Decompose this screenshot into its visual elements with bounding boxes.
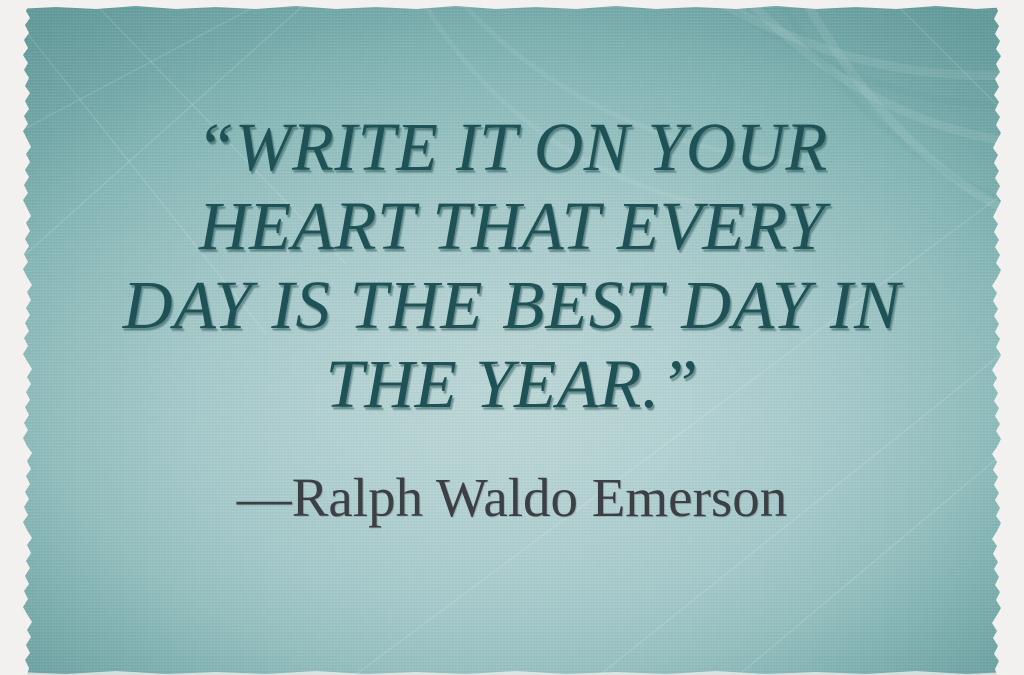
paper-card: “WRITE IT ON YOUR HEART THAT EVERY DAY I…: [16, 4, 1008, 675]
quote-line-2: HEART THAT EVERY: [32, 187, 992, 266]
quote-line-4: THE YEAR.”: [32, 345, 992, 424]
quote-poster: “WRITE IT ON YOUR HEART THAT EVERY DAY I…: [0, 0, 1024, 675]
quote-attribution: —Ralph Waldo Emerson: [237, 424, 788, 528]
quote-text: “WRITE IT ON YOUR HEART THAT EVERY DAY I…: [32, 108, 992, 424]
poster-content: “WRITE IT ON YOUR HEART THAT EVERY DAY I…: [16, 4, 1008, 675]
quote-line-3: DAY IS THE BEST DAY IN: [32, 266, 992, 345]
quote-line-1: “WRITE IT ON YOUR: [37, 108, 987, 187]
